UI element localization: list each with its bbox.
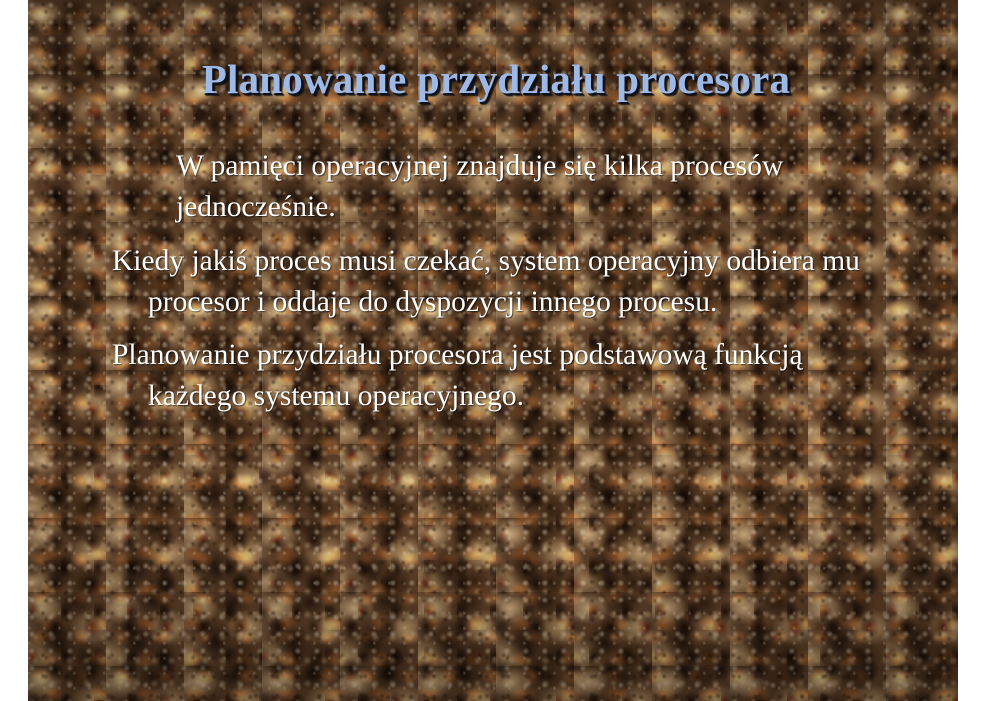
- slide-body-text: W pamięci operacyjnej znajduje się kilka…: [112, 146, 902, 428]
- body-paragraph-3: Planowanie przydziału procesora jest pod…: [112, 335, 902, 417]
- presentation-slide: Planowanie przydziału procesora W pamięc…: [0, 0, 992, 701]
- body-paragraph-2: Kiedy jakiś proces musi czekać, system o…: [112, 241, 902, 323]
- slide-title: Planowanie przydziału procesora: [0, 57, 992, 101]
- slide-content-layer: Planowanie przydziału procesora W pamięc…: [0, 0, 992, 701]
- body-paragraph-1: W pamięci operacyjnej znajduje się kilka…: [112, 146, 902, 228]
